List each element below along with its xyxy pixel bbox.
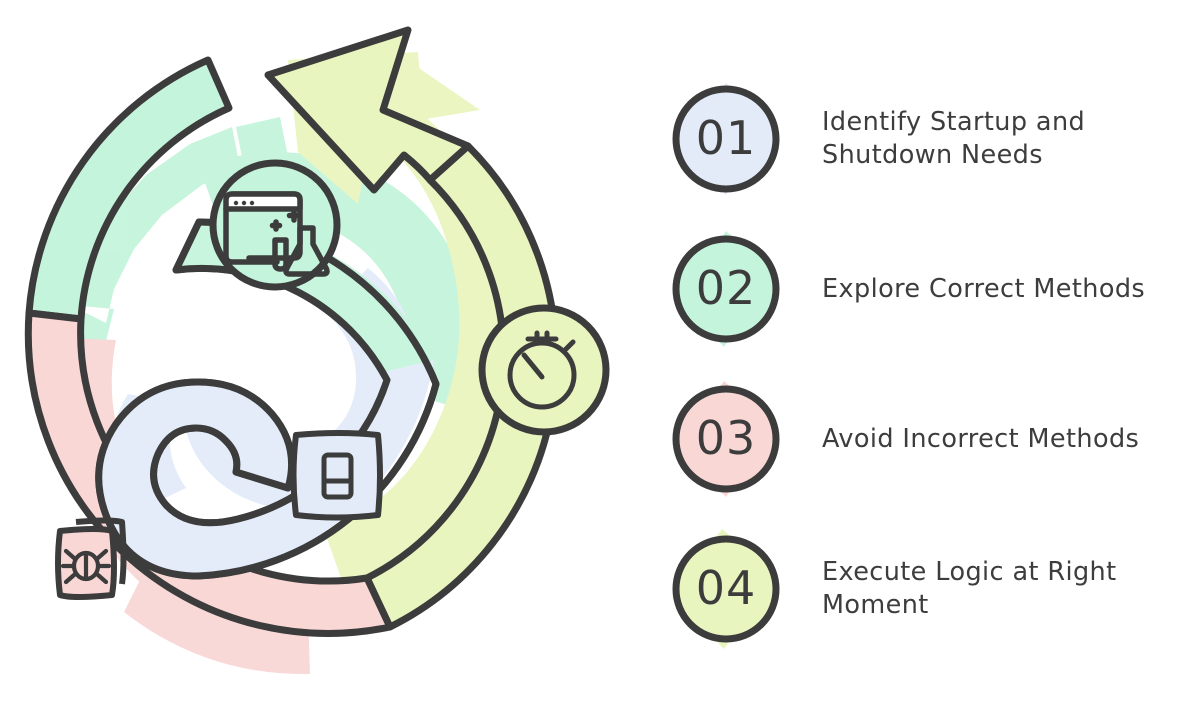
badge-number: 04 — [696, 565, 757, 614]
diagram-canvas — [28, 30, 606, 674]
legend-item-label: Explore Correct Methods — [822, 273, 1145, 306]
bug-document-icon — [63, 551, 109, 582]
list-item[interactable]: 04 Execute Logic at Right Moment — [660, 514, 1184, 664]
infographic-page: 01 Identify Startup and Shutdown Needs 0… — [0, 0, 1184, 719]
bubble-circle-right — [482, 308, 606, 432]
icon-tile-power-switch — [294, 433, 381, 518]
badge-01[interactable]: 01 — [666, 79, 786, 199]
badge-number: 03 — [696, 415, 757, 464]
icon-tile-bug-document — [58, 521, 124, 598]
icon-bubble-stopwatch — [482, 308, 606, 432]
legend-list: 01 Identify Startup and Shutdown Needs 0… — [660, 64, 1184, 664]
spiral-cycle-diagram — [0, 0, 650, 719]
list-item[interactable]: 03 Avoid Incorrect Methods — [660, 364, 1184, 514]
list-item[interactable]: 02 Explore Correct Methods — [660, 214, 1184, 364]
icon-bubble-browser-flask — [213, 163, 337, 287]
badge-04[interactable]: 04 — [666, 529, 786, 649]
badge-number: 02 — [696, 265, 757, 314]
legend-item-label: Identify Startup and Shutdown Needs — [822, 106, 1167, 171]
badge-02[interactable]: 02 — [666, 229, 786, 349]
badge-03[interactable]: 03 — [666, 379, 786, 499]
tile-square-power — [294, 433, 381, 518]
badge-number: 01 — [696, 115, 757, 164]
legend-item-label: Avoid Incorrect Methods — [822, 423, 1139, 456]
legend-item-label: Execute Logic at Right Moment — [822, 556, 1167, 621]
list-item[interactable]: 01 Identify Startup and Shutdown Needs — [660, 64, 1184, 214]
ring-segment-mint — [29, 60, 229, 319]
